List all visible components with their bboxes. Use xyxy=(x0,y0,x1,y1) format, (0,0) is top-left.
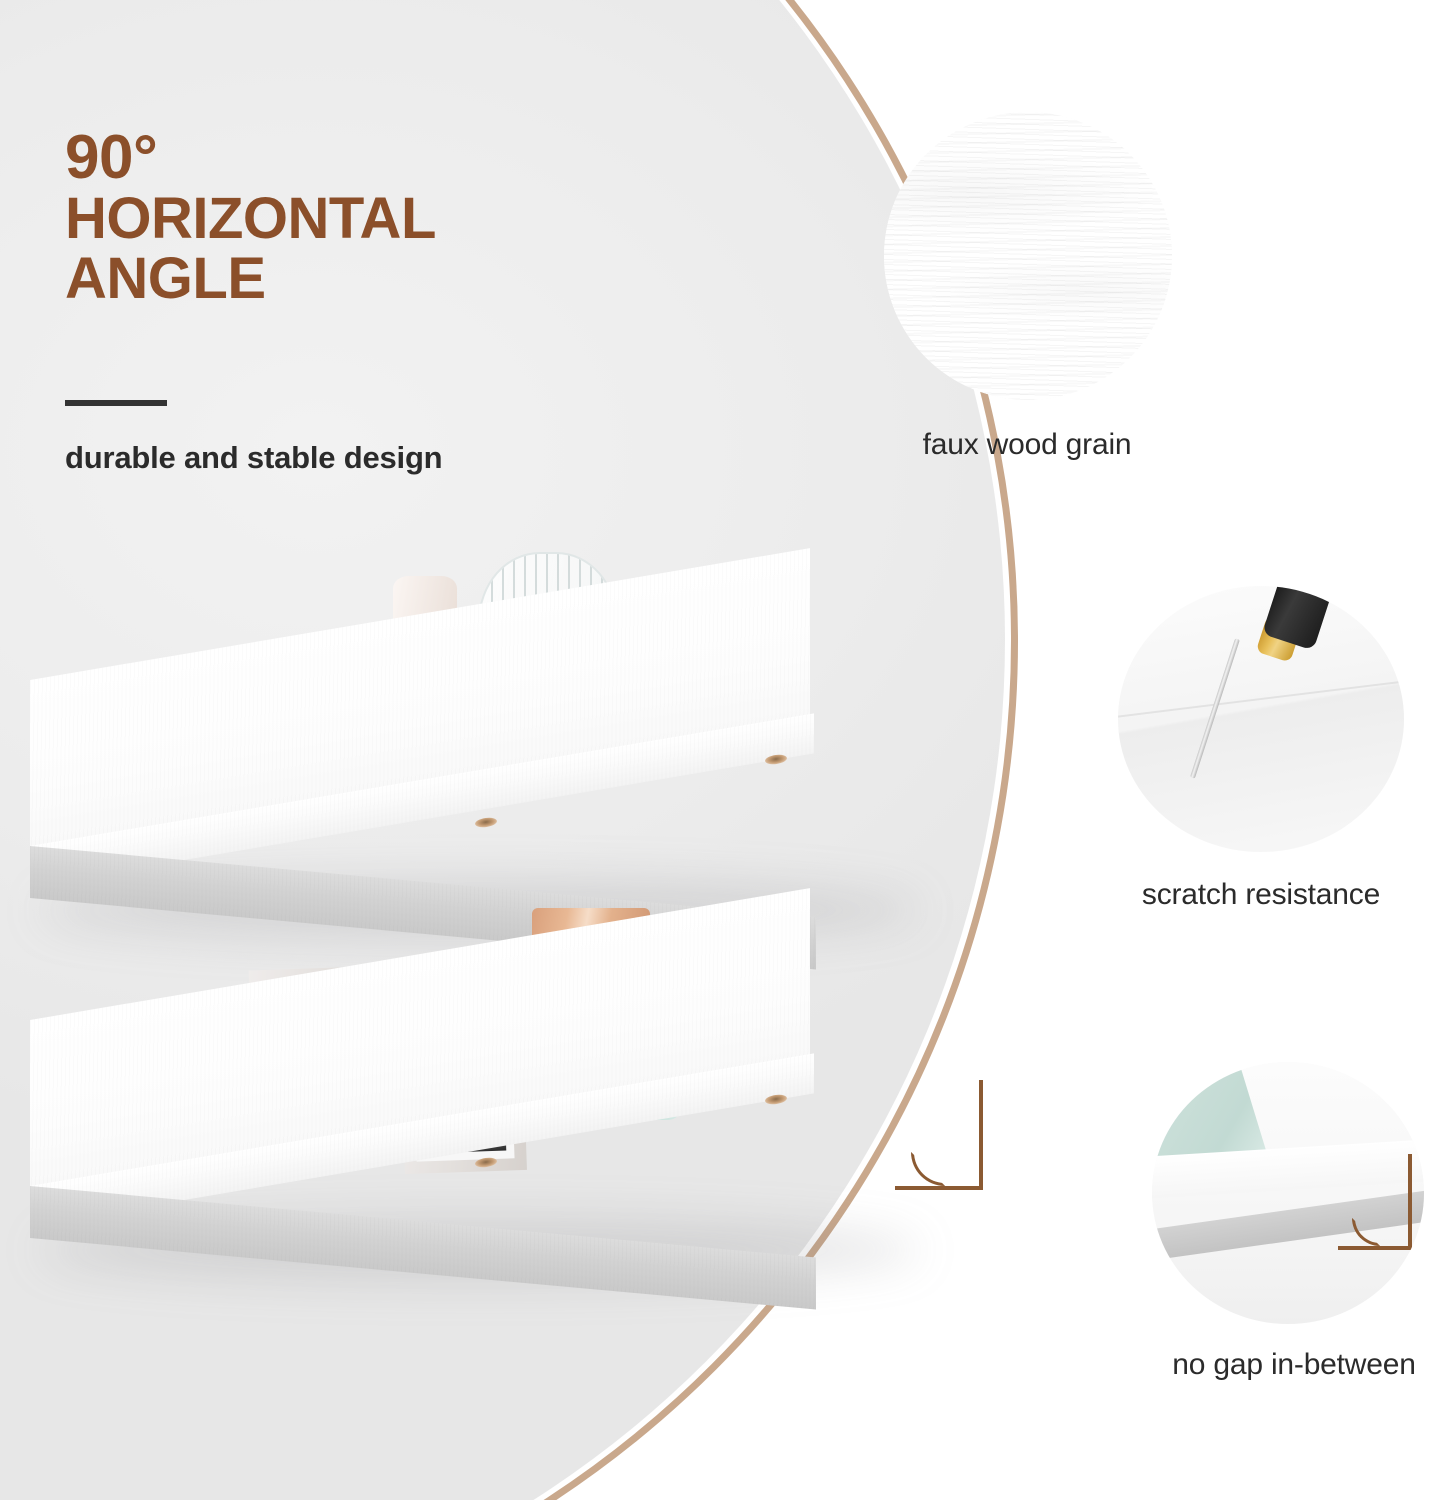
feature-caption-no-gap-in-between: no gap in-between xyxy=(1144,1348,1444,1382)
headline-line-2: HORIZONTAL xyxy=(65,189,685,249)
screwdriver-icon xyxy=(1118,586,1404,852)
feature-caption-faux-wood-grain: faux wood grain xyxy=(852,428,1202,462)
angle-marker-vertical-leg xyxy=(979,1080,983,1190)
scratch-surface-edge xyxy=(1118,678,1404,719)
scratch-test-scene xyxy=(1118,586,1404,852)
feature-no-gap-in-between: no gap in-between xyxy=(1152,1062,1445,1382)
no-gap-mint-vase-corner xyxy=(1157,1062,1266,1156)
no-gap-scene xyxy=(1152,1062,1424,1324)
upper-shelf-screw-hole-left xyxy=(474,817,497,829)
upper-shelf xyxy=(20,650,960,920)
lower-shelf xyxy=(20,990,960,1260)
headline-line-3: ANGLE xyxy=(65,249,685,309)
feature-caption-scratch-resistance: scratch resistance xyxy=(1106,878,1416,912)
wood-grain-swatch-icon xyxy=(884,112,1172,400)
subheadline-text: durable and stable design xyxy=(65,440,442,476)
headline-block: 90° HORIZONTAL ANGLE xyxy=(65,128,685,309)
wood-grain-texture xyxy=(884,112,1172,400)
feature-scratch-resistance: scratch resistance xyxy=(1118,586,1418,912)
headline-line-1: 90° xyxy=(65,128,685,189)
screwdriver-shaft xyxy=(1190,638,1240,779)
shelf-edge-icon xyxy=(1152,1062,1424,1324)
headline-divider-rule xyxy=(65,400,167,406)
product-feature-image: 90° HORIZONTAL ANGLE durable and stable … xyxy=(0,0,1445,1500)
feature-faux-wood-grain: faux wood grain xyxy=(878,112,1178,462)
lower-shelf-screw-hole-left xyxy=(474,1157,497,1169)
no-gap-shelf-underside xyxy=(1152,1188,1424,1263)
